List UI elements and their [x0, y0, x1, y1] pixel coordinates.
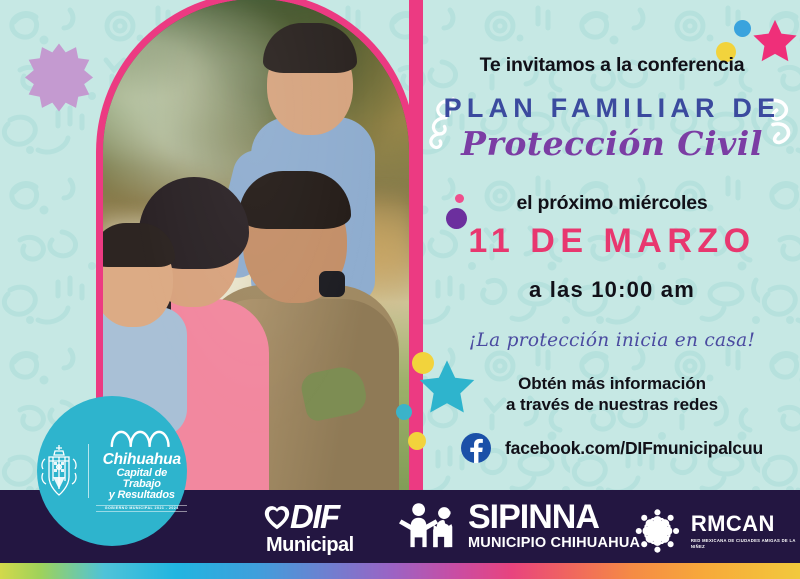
- invitation-content: Te invitamos a la conferencia PLAN FAMIL…: [424, 0, 800, 500]
- facebook-handle[interactable]: facebook.com/DIFmunicipalcuu: [505, 438, 763, 459]
- teal-dot-decoration: [396, 404, 412, 420]
- chihuahua-line-3: y Resultados: [96, 490, 187, 501]
- slogan-text: ¡La protección inicia en casa!: [424, 330, 800, 351]
- more-info-line-1: Obtén más información: [424, 373, 800, 394]
- dif-logo: DIF Municipal: [262, 498, 354, 557]
- chihuahua-line-4: GOBIERNO MUNICIPAL 2021 - 2024: [96, 505, 187, 513]
- chihuahua-logo: Chihuahua Capital de Trabajo y Resultado…: [37, 396, 187, 546]
- event-date: 11 DE MARZO: [424, 224, 800, 258]
- rmcan-sub: RED MEXICANA DE CIUDADES AMIGAS DE LA NI…: [691, 538, 800, 549]
- purple-starburst-icon: [22, 42, 96, 116]
- rmcan-logo: RMCAN RED MEXICANA DE CIUDADES AMIGAS DE…: [632, 503, 800, 559]
- weekday-label: el próximo miércoles: [424, 192, 800, 215]
- sipinna-name: SIPINNA: [468, 500, 640, 534]
- coat-of-arms-icon: [37, 443, 81, 499]
- two-children-icon: [398, 502, 458, 548]
- more-info-text: Obtén más información a través de nuestr…: [424, 373, 800, 416]
- dif-sub-text: Municipal: [266, 534, 354, 557]
- facebook-row[interactable]: facebook.com/DIFmunicipalcuu: [424, 433, 800, 463]
- more-info-line-2: a través de nuestras redes: [424, 394, 800, 415]
- title-line-1: PLAN FAMILIAR DE: [424, 95, 800, 122]
- mountain-peaks-icon: [109, 430, 175, 447]
- rainbow-gradient-bar: [0, 563, 800, 579]
- sipinna-logo: SIPINNA MUNICIPIO CHIHUAHUA: [398, 500, 640, 551]
- chihuahua-line-2: Capital de Trabajo: [96, 468, 187, 490]
- rmcan-name: RMCAN: [691, 513, 800, 535]
- sipinna-sub: MUNICIPIO CHIHUAHUA: [468, 536, 640, 551]
- heart-icon: [262, 502, 292, 532]
- event-time: a las 10:00 am: [424, 277, 800, 303]
- intro-text: Te invitamos a la conferencia: [424, 56, 800, 76]
- chihuahua-line-1: Chihuahua: [96, 452, 187, 468]
- children-circle-icon: [632, 503, 683, 559]
- title-line-2: Protección Civil: [424, 126, 800, 162]
- dif-mark-text: DIF: [290, 498, 339, 536]
- facebook-icon[interactable]: [461, 433, 491, 463]
- logo-divider: [88, 444, 89, 498]
- poster-canvas: Te invitamos a la conferencia PLAN FAMIL…: [0, 0, 800, 579]
